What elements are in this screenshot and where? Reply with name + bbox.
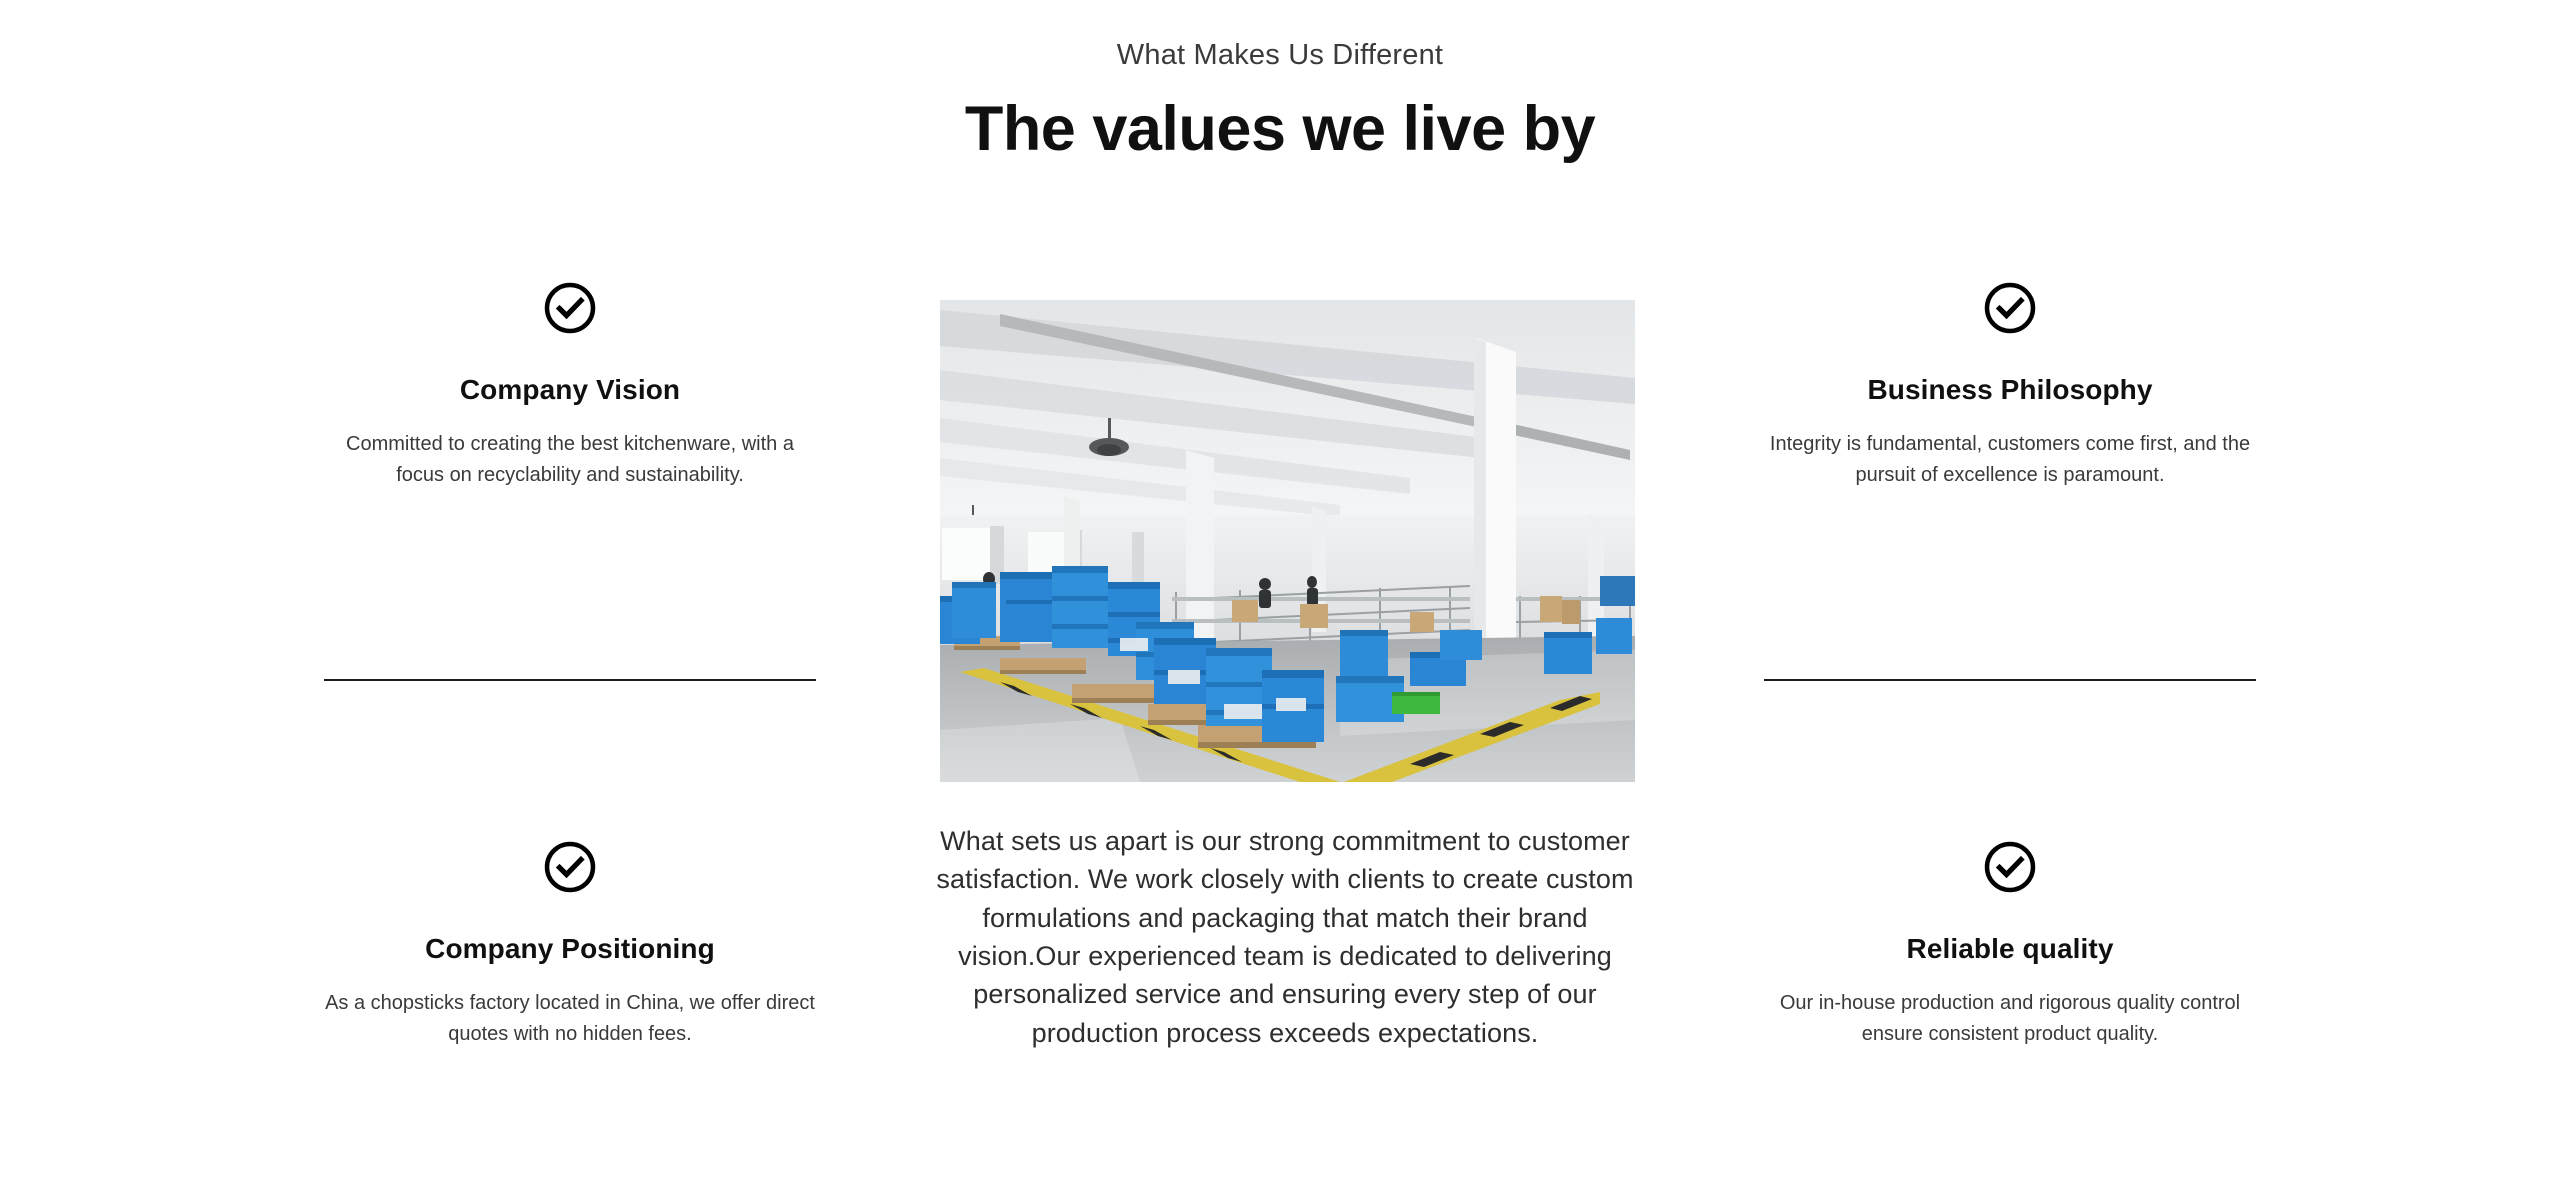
- value-card-reliable-quality: Reliable quality Our in-house production…: [1740, 839, 2280, 1050]
- card-divider: [1764, 679, 2256, 681]
- check-circle-icon: [1740, 839, 2280, 895]
- values-grid: Company Vision Committed to creating the…: [0, 280, 2560, 1120]
- check-circle-icon: [300, 839, 840, 895]
- value-card-title: Company Vision: [300, 372, 840, 407]
- page-title: The values we live by: [0, 93, 2560, 165]
- card-divider: [324, 679, 816, 681]
- section-header: What Makes Us Different The values we li…: [0, 38, 2560, 165]
- value-card-description: Committed to creating the best kitchenwa…: [300, 429, 840, 491]
- value-card-description: Our in-house production and rigorous qua…: [1740, 988, 2280, 1050]
- value-card-company-positioning: Company Positioning As a chopsticks fact…: [300, 839, 840, 1050]
- right-column: Business Philosophy Integrity is fundame…: [1740, 280, 2280, 702]
- value-card-title: Business Philosophy: [1740, 372, 2280, 407]
- center-paragraph: What sets us apart is our strong commitm…: [930, 822, 1640, 1052]
- values-section: What Makes Us Different The values we li…: [0, 0, 2560, 1177]
- left-column: Company Vision Committed to creating the…: [300, 280, 840, 702]
- value-card-company-vision: Company Vision Committed to creating the…: [300, 280, 840, 491]
- factory-photo: [940, 300, 1635, 782]
- value-card-title: Company Positioning: [300, 931, 840, 966]
- check-circle-icon: [1740, 280, 2280, 336]
- section-eyebrow: What Makes Us Different: [0, 38, 2560, 73]
- value-card-title: Reliable quality: [1740, 931, 2280, 966]
- value-card-business-philosophy: Business Philosophy Integrity is fundame…: [1740, 280, 2280, 491]
- check-circle-icon: [300, 280, 840, 336]
- value-card-description: Integrity is fundamental, customers come…: [1740, 429, 2280, 491]
- center-column: What sets us apart is our strong commitm…: [930, 280, 1640, 1052]
- value-card-description: As a chopsticks factory located in China…: [300, 988, 840, 1050]
